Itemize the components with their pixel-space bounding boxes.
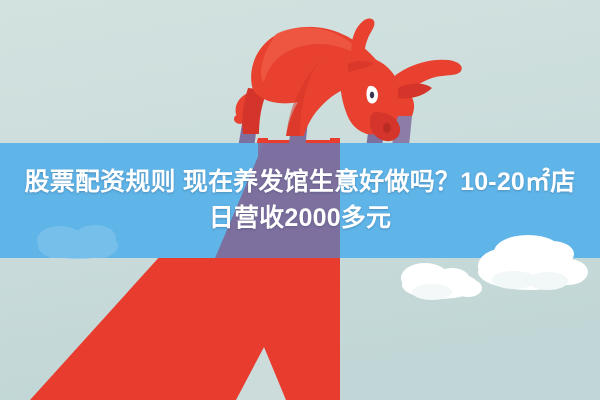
promo-image: 股票配资规则 现在养发馆生意好做吗？10-20㎡店 日营收2000多元 [0,0,600,400]
illustration-canvas [0,0,600,400]
